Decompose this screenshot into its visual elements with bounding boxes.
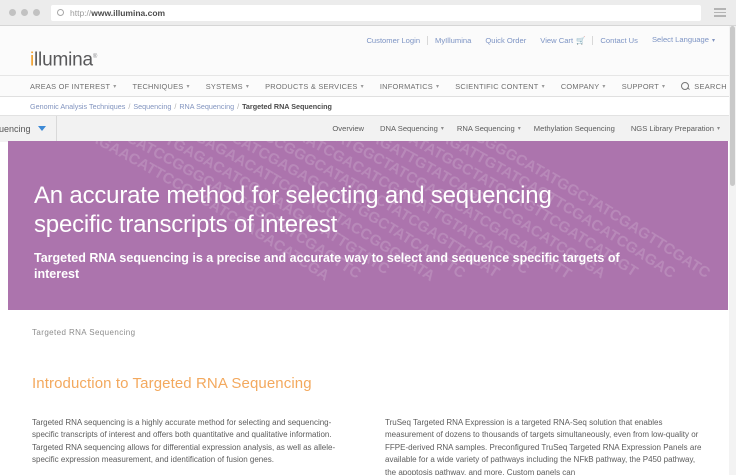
chevron-down-icon: ▾ — [662, 83, 665, 90]
utility-nav: Customer Login MyIllumina Quick Order Vi… — [0, 26, 736, 48]
utility-link-customer-login[interactable]: Customer Login — [359, 36, 427, 46]
address-bar[interactable]: http://www.illumina.com — [51, 5, 701, 21]
chevron-down-icon: ▾ — [542, 83, 545, 90]
registered-mark: ® — [93, 54, 97, 60]
close-dot-icon[interactable] — [9, 9, 16, 16]
breadcrumb-item-current: Targeted RNA Sequencing — [242, 102, 332, 111]
chevron-down-icon: ▾ — [441, 125, 444, 132]
primary-nav: AREAS OF INTEREST▾ TECHNIQUES▾ SYSTEMS▾ … — [0, 75, 736, 97]
chevron-down-icon: ▾ — [518, 125, 521, 132]
hamburger-line — [714, 15, 726, 17]
breadcrumb-separator: / — [171, 102, 179, 111]
breadcrumb-item-rna-sequencing[interactable]: RNA Sequencing — [179, 102, 234, 111]
content-columns: Targeted RNA sequencing is a highly accu… — [32, 417, 706, 475]
chevron-down-icon: ▾ — [717, 125, 720, 132]
subnav-item-overview[interactable]: Overview — [332, 124, 367, 133]
search-button[interactable]: SEARCH — [681, 82, 727, 91]
browser-toolbar: http://www.illumina.com — [0, 0, 736, 26]
nav-item-areas-of-interest[interactable]: AREAS OF INTEREST▾ — [30, 82, 117, 91]
secondary-nav-section-label: quencing — [0, 124, 31, 134]
hero-title: An accurate method for selecting and seq… — [34, 181, 594, 239]
secondary-nav-links: Overview DNA Sequencing▾ RNA Sequencing▾… — [332, 124, 736, 133]
hero-content: An accurate method for selecting and seq… — [8, 141, 728, 282]
paragraph-left: Targeted RNA sequencing is a highly accu… — [32, 417, 353, 467]
subnav-item-ngs-library-preparation[interactable]: NGS Library Preparation▾ — [631, 124, 720, 133]
site-header: Customer Login MyIllumina Quick Order Vi… — [0, 26, 736, 115]
page-eyebrow-label: Targeted RNA Sequencing — [32, 328, 706, 337]
nav-item-support[interactable]: SUPPORT▾ — [622, 82, 666, 91]
breadcrumb-separator: / — [234, 102, 242, 111]
utility-link-select-language[interactable]: Select Language▾ — [645, 35, 722, 46]
nav-item-systems[interactable]: SYSTEMS▾ — [206, 82, 249, 91]
browser-window: http://www.illumina.com Customer Login M… — [0, 0, 736, 475]
search-icon — [681, 82, 689, 90]
main-content: Targeted RNA Sequencing Introduction to … — [0, 310, 736, 475]
chevron-down-icon: ▾ — [361, 83, 364, 90]
utility-link-contact-us[interactable]: Contact Us — [593, 36, 645, 46]
content-column-left: Targeted RNA sequencing is a highly accu… — [32, 417, 353, 475]
chevron-down-icon: ▾ — [712, 38, 715, 44]
minimize-dot-icon[interactable] — [21, 9, 28, 16]
paragraph-right: TruSeq Targeted RNA Expression is a targ… — [385, 417, 706, 475]
secondary-nav-section-selector[interactable]: quencing — [0, 116, 57, 142]
utility-link-view-cart[interactable]: View Cart🛒 — [533, 36, 592, 46]
nav-item-scientific-content[interactable]: SCIENTIFIC CONTENT▾ — [455, 82, 545, 91]
hamburger-line — [714, 8, 726, 10]
triangle-down-icon — [38, 126, 46, 131]
window-controls[interactable] — [9, 9, 40, 16]
breadcrumb: Genomic Analysis Techniques / Sequencing… — [0, 97, 736, 115]
subnav-item-rna-sequencing[interactable]: RNA Sequencing▾ — [457, 124, 521, 133]
chevron-down-icon: ▾ — [246, 83, 249, 90]
url-text: http://www.illumina.com — [70, 8, 165, 18]
hero-subtitle: Targeted RNA sequencing is a precise and… — [34, 250, 654, 282]
scrollbar-thumb[interactable] — [730, 26, 735, 186]
chevron-down-icon: ▾ — [602, 83, 605, 90]
illumina-logo[interactable]: illumina® — [30, 48, 97, 69]
reload-icon[interactable] — [57, 9, 64, 16]
utility-link-myillumina[interactable]: MyIllumina — [428, 36, 478, 46]
search-label: SEARCH — [694, 82, 727, 91]
content-column-right: TruSeq Targeted RNA Expression is a targ… — [385, 417, 706, 475]
chevron-down-icon: ▾ — [436, 83, 439, 90]
hamburger-line — [714, 12, 726, 14]
page-viewport: Customer Login MyIllumina Quick Order Vi… — [0, 26, 736, 475]
subnav-item-methylation-sequencing[interactable]: Methylation Sequencing — [534, 124, 618, 133]
brand-row: illumina® — [0, 48, 736, 75]
nav-item-informatics[interactable]: INFORMATICS▾ — [380, 82, 439, 91]
nav-item-products-and-services[interactable]: PRODUCTS & SERVICES▾ — [265, 82, 364, 91]
nav-item-techniques[interactable]: TECHNIQUES▾ — [133, 82, 190, 91]
shopping-cart-icon: 🛒 — [576, 36, 585, 46]
subnav-item-dna-sequencing[interactable]: DNA Sequencing▾ — [380, 124, 444, 133]
chevron-down-icon: ▾ — [186, 83, 189, 90]
hamburger-menu-icon[interactable] — [714, 8, 726, 17]
logo-wordmark: llumina — [34, 49, 93, 70]
secondary-nav: quencing Overview DNA Sequencing▾ RNA Se… — [0, 115, 736, 141]
page-scrollbar[interactable] — [729, 26, 736, 475]
chevron-down-icon: ▾ — [113, 83, 116, 90]
nav-item-company[interactable]: COMPANY▾ — [561, 82, 606, 91]
hero-banner: GATTCGAGAACATTCCGACATCGAGACATCGA CTGAGAC… — [8, 141, 728, 310]
breadcrumb-separator: / — [125, 102, 133, 111]
breadcrumb-item-genomic-analysis-techniques[interactable]: Genomic Analysis Techniques — [30, 102, 125, 111]
utility-link-quick-order[interactable]: Quick Order — [478, 36, 533, 46]
breadcrumb-item-sequencing[interactable]: Sequencing — [133, 102, 171, 111]
maximize-dot-icon[interactable] — [33, 9, 40, 16]
section-heading: Introduction to Targeted RNA Sequencing — [32, 375, 706, 392]
